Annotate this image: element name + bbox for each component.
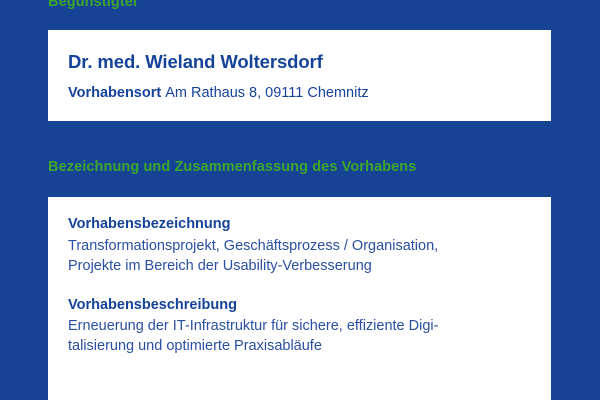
section-label-project-summary: Bezeichnung und Zusammenfassung des Vorh…	[48, 160, 416, 176]
field-value-project-description: Erneuerung der IT-Infrastruktur für sich…	[68, 316, 520, 356]
field-project-title: Vorhabensbezeichnung Transformationsproj…	[68, 215, 531, 276]
project-summary-card: Vorhabensbezeichnung Transformationsproj…	[48, 197, 551, 400]
document-page: Begünstigter Dr. med. Wieland Woltersdor…	[0, 0, 600, 400]
value-line: talisierung und optimierte Praxisabläufe	[68, 336, 520, 356]
beneficiary-location: Vorhabensort Am Rathaus 8, 09111 Chemnit…	[68, 84, 531, 103]
value-line: Projekte im Bereich der Usability-Verbes…	[68, 256, 520, 276]
field-value-project-title: Transformationsprojekt, Geschäftsprozess…	[68, 236, 520, 276]
value-line: Erneuerung der IT-Infrastruktur für sich…	[68, 316, 520, 336]
section-label-beneficiary: Begünstigter	[48, 0, 139, 11]
beneficiary-name: Dr. med. Wieland Woltersdorf	[68, 50, 531, 73]
field-label-project-description: Vorhabensbeschreibung	[68, 296, 531, 316]
value-line: Transformationsprojekt, Geschäftsprozess…	[68, 236, 520, 256]
location-value: Am Rathaus 8, 09111 Chemnitz	[165, 85, 368, 101]
location-label: Vorhabensort	[68, 85, 161, 101]
field-project-description: Vorhabensbeschreibung Erneuerung der IT-…	[68, 296, 531, 357]
field-label-project-title: Vorhabensbezeichnung	[68, 215, 531, 235]
beneficiary-card: Dr. med. Wieland Woltersdorf Vorhabensor…	[48, 30, 551, 121]
